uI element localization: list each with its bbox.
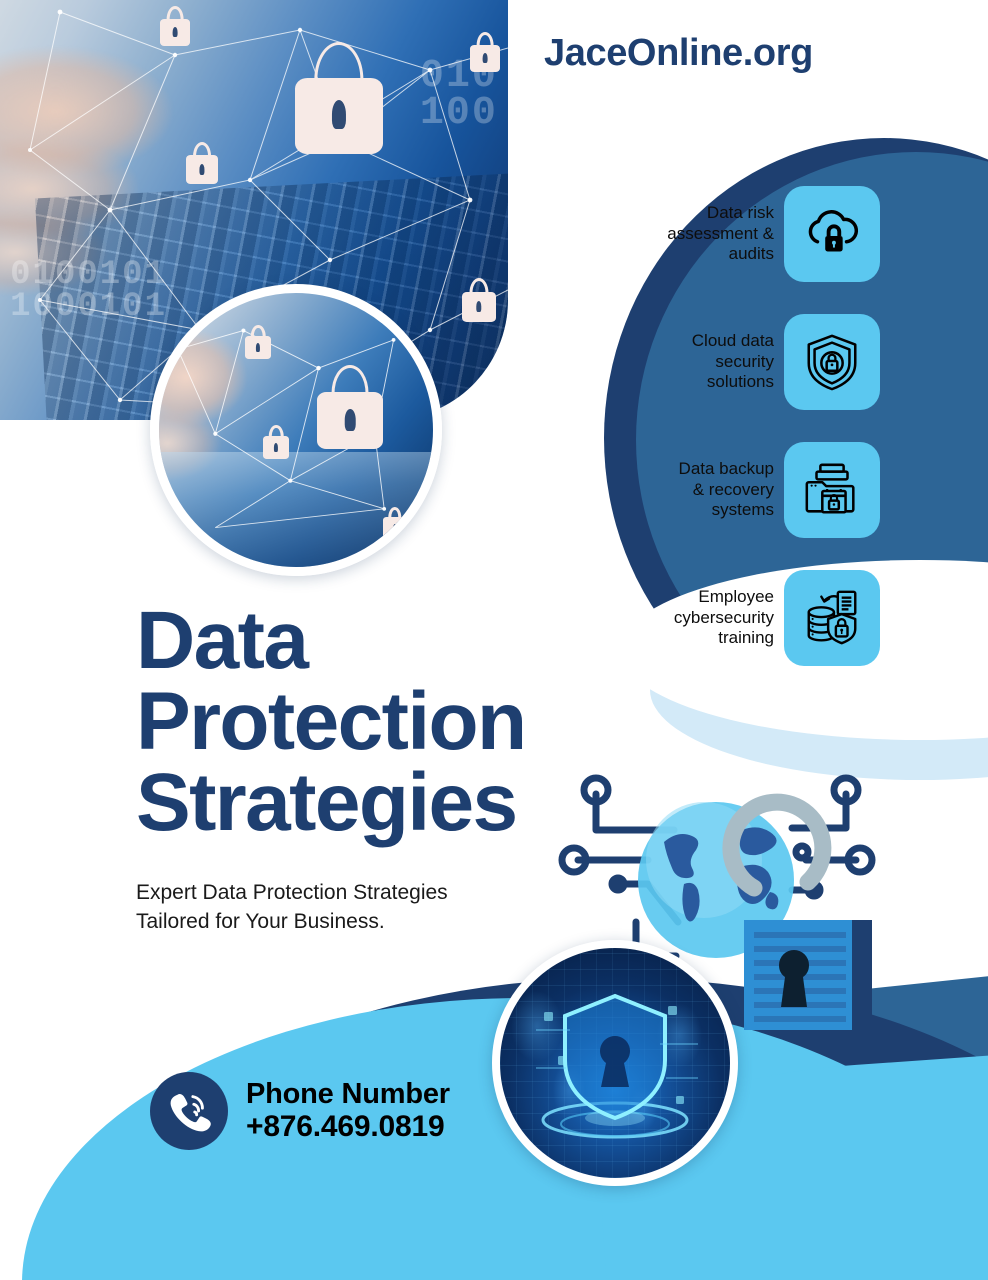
contact-phone[interactable]: Phone Number +876.469.0819 [150,1072,450,1150]
service-label: Employee cybersecurity training [674,587,774,649]
page-title: Data Protection Strategies [136,600,525,844]
padlock-icon [295,42,383,154]
phone-label: Phone Number [246,1078,450,1110]
tagline: Expert Data Protection Strategies Tailor… [136,878,448,937]
service-item-data-risk-assessment[interactable]: Data risk assessment & audits [656,186,880,282]
service-label: Data backup & recovery systems [679,459,774,521]
cyber-shield-image [492,940,738,1186]
database-shield-lock-icon [801,587,863,649]
inset-circle-image [150,284,442,576]
brand-name: JaceOnline.org [544,32,813,75]
padlock-icon [383,507,407,539]
padlock-icon [245,325,271,359]
service-icon-tile[interactable] [784,314,880,410]
padlock-icon [462,278,496,322]
service-item-cloud-data-security[interactable]: Cloud data security solutions [582,314,880,410]
service-icon-tile[interactable] [784,442,880,538]
padlock-icon [263,425,289,459]
service-icon-tile[interactable] [784,570,880,666]
services-list: Data risk assessment & audits Cloud data… [520,186,880,666]
shield-keyhole-hologram [500,948,730,1178]
service-item-data-backup-recovery[interactable]: Data backup & recovery systems [568,442,880,538]
padlock-icon [317,365,383,449]
phone-number[interactable]: +876.469.0819 [246,1110,450,1144]
contact-text: Phone Number +876.469.0819 [246,1078,450,1144]
padlock-icon [160,6,190,46]
padlock-icon [186,142,218,184]
phone-icon-circle[interactable] [150,1072,228,1150]
service-icon-tile[interactable] [784,186,880,282]
folder-lock-icon [801,459,863,521]
service-label: Cloud data security solutions [692,331,774,393]
shield-lock-icon [801,331,863,393]
padlock-body [744,920,872,1030]
service-label: Data risk assessment & audits [667,203,774,265]
cloud-lock-icon [801,203,863,265]
phone-ringing-icon [166,1088,212,1134]
service-item-employee-cybersecurity-training[interactable]: Employee cybersecurity training [654,570,880,666]
padlock-icon [470,32,500,72]
